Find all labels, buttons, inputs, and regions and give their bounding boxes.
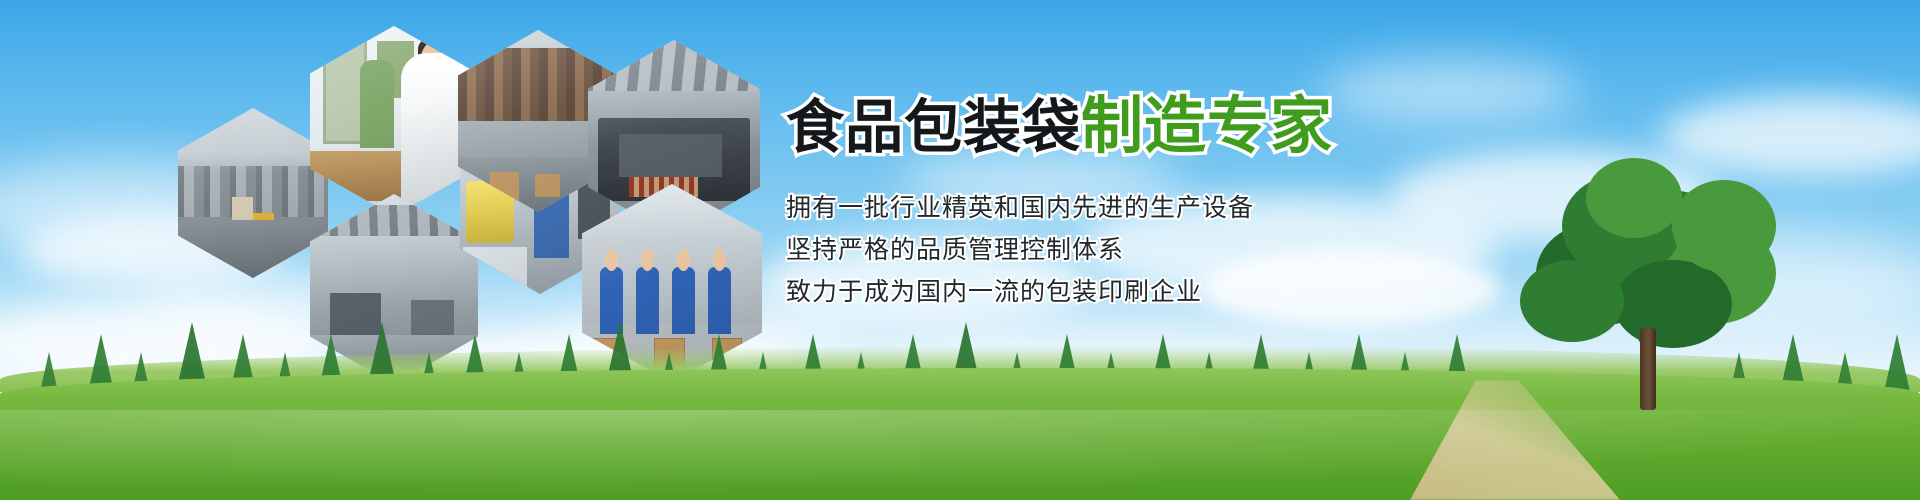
grass-highlight xyxy=(0,410,1920,500)
hex-photo-warehouse-forklift[interactable] xyxy=(178,108,328,278)
headline-dark-text: 食品包装袋 xyxy=(786,95,1081,160)
hex-photo-lab-technician[interactable] xyxy=(310,26,478,216)
hero-banner: 食品包装袋制造专家 拥有一批行业精英和国内先进的生产设备 坚持严格的品质管理控制… xyxy=(0,0,1920,500)
hex-photo-cluster xyxy=(170,12,780,362)
large-tree xyxy=(1502,164,1802,404)
headline-green-text: 制造专家 xyxy=(1081,92,1333,161)
banner-headline: 食品包装袋制造专家 xyxy=(786,96,1786,159)
